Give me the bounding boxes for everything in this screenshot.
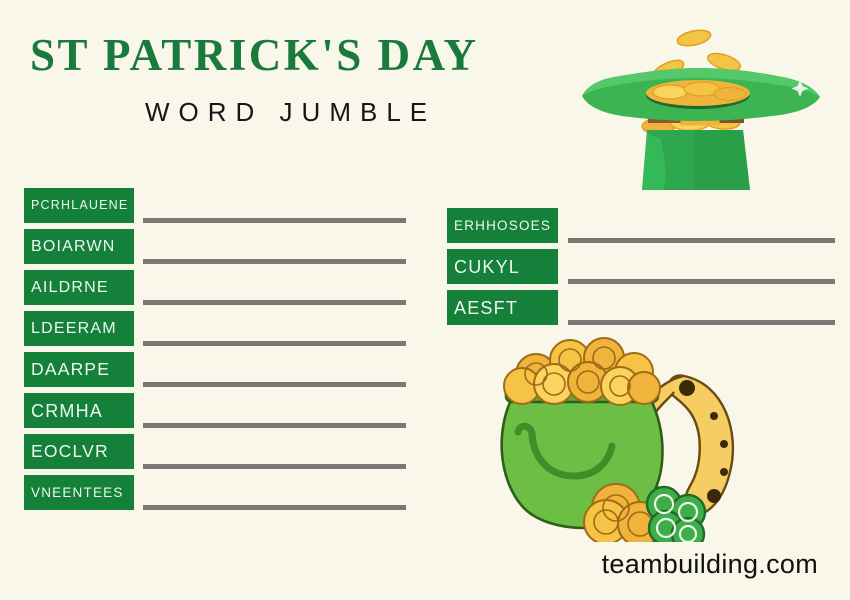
pot-of-gold-icon — [488, 336, 756, 542]
scrambled-word-chip[interactable]: LDEERAM — [24, 311, 134, 346]
page-subtitle: WORD JUMBLE — [145, 99, 436, 125]
scrambled-word-text: AESFT — [454, 299, 518, 317]
word-row: CUKYL — [447, 249, 835, 290]
word-row: EOCLVR — [24, 434, 409, 475]
answer-line[interactable] — [143, 341, 406, 346]
answer-line[interactable] — [143, 423, 406, 428]
scrambled-word-text: CUKYL — [454, 258, 520, 276]
leprechaun-hat-icon — [572, 18, 837, 193]
answer-line[interactable] — [143, 464, 406, 469]
scrambled-word-chip[interactable]: ERHHOSOES — [447, 208, 558, 243]
answer-line[interactable] — [568, 238, 835, 243]
scrambled-word-text: PCRHLAUENE — [31, 199, 128, 212]
scrambled-word-chip[interactable]: CRMHA — [24, 393, 134, 428]
word-row: DAARPE — [24, 352, 409, 393]
word-row: BOIARWN — [24, 229, 409, 270]
word-row: AILDRNE — [24, 270, 409, 311]
answer-line[interactable] — [568, 320, 835, 325]
scrambled-word-text: CRMHA — [31, 402, 103, 420]
brand-footer: teambuilding.com — [602, 551, 818, 578]
scrambled-word-chip[interactable]: VNEENTEES — [24, 475, 134, 510]
scrambled-word-text: DAARPE — [31, 361, 110, 379]
page-title: ST PATRICK'S DAY — [30, 33, 478, 78]
word-list-left: PCRHLAUENE BOIARWN AILDRNE LDEERAM DAARP — [24, 188, 409, 516]
scrambled-word-chip[interactable]: AILDRNE — [24, 270, 134, 305]
worksheet-page: ST PATRICK'S DAY WORD JUMBLE PCRHLAUENE … — [0, 0, 850, 600]
scrambled-word-chip[interactable]: EOCLVR — [24, 434, 134, 469]
scrambled-word-text: VNEENTEES — [31, 486, 124, 500]
word-row: PCRHLAUENE — [24, 188, 409, 229]
word-list-right: ERHHOSOES CUKYL AESFT — [447, 208, 835, 331]
scrambled-word-text: ERHHOSOES — [454, 219, 551, 233]
answer-line[interactable] — [143, 505, 406, 510]
word-row: ERHHOSOES — [447, 208, 835, 249]
answer-line[interactable] — [568, 279, 835, 284]
scrambled-word-chip[interactable]: DAARPE — [24, 352, 134, 387]
scrambled-word-text: EOCLVR — [31, 443, 109, 461]
scrambled-word-text: LDEERAM — [31, 321, 117, 337]
answer-line[interactable] — [143, 259, 406, 264]
word-row: LDEERAM — [24, 311, 409, 352]
word-row: VNEENTEES — [24, 475, 409, 516]
scrambled-word-chip[interactable]: BOIARWN — [24, 229, 134, 264]
scrambled-word-chip[interactable]: CUKYL — [447, 249, 558, 284]
scrambled-word-text: AILDRNE — [31, 280, 109, 296]
scrambled-word-chip[interactable]: PCRHLAUENE — [24, 188, 134, 223]
scrambled-word-chip[interactable]: AESFT — [447, 290, 558, 325]
answer-line[interactable] — [143, 382, 406, 387]
answer-line[interactable] — [143, 218, 406, 223]
scrambled-word-text: BOIARWN — [31, 239, 116, 255]
answer-line[interactable] — [143, 300, 406, 305]
word-row: AESFT — [447, 290, 835, 331]
word-row: CRMHA — [24, 393, 409, 434]
